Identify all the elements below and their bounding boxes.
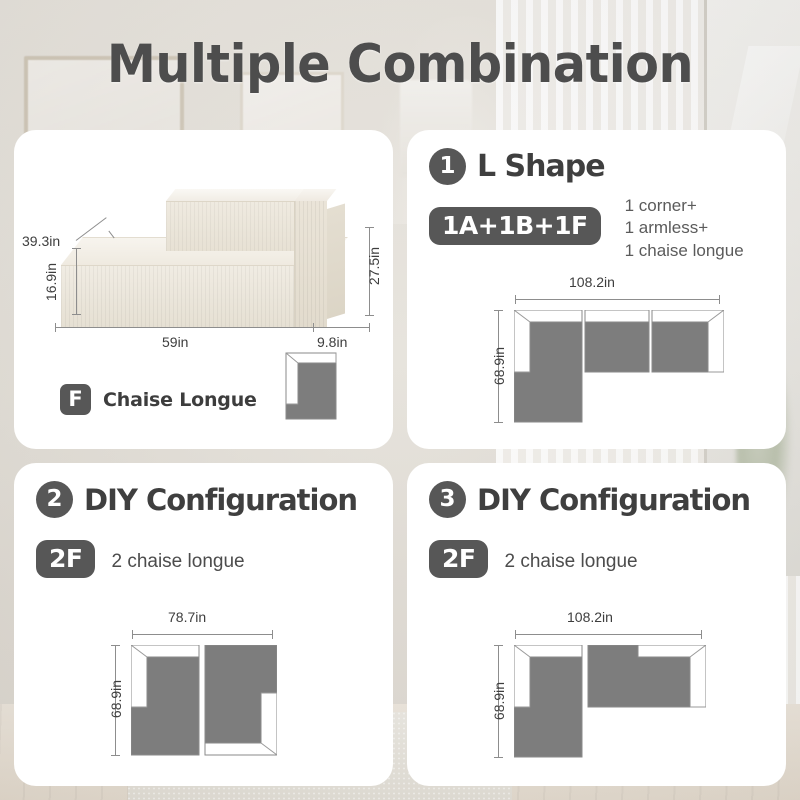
card-2-depth-cap-top — [111, 645, 120, 646]
card-config-2: 2 DIY Configuration 2F 2 chaise longue 7… — [14, 463, 393, 786]
card-1-combination-pill: 1A+1B+1F — [429, 207, 601, 245]
sofa-arm-top — [294, 189, 336, 201]
card-1-depth-cap-top — [494, 310, 503, 311]
module-name-label: Chaise Longue — [103, 389, 257, 411]
card-2-header: 2 DIY Configuration — [36, 481, 371, 518]
seat-height-cap-bottom — [72, 314, 81, 315]
card-1-width-cap-left — [515, 295, 516, 304]
width-cap-left — [55, 323, 56, 332]
seat-height-dimension-label: 16.9in — [43, 254, 59, 310]
page-title: Multiple Combination — [28, 34, 772, 95]
seat-height-cap-top — [72, 248, 81, 249]
seat-height-dimension-line — [76, 248, 77, 314]
sofa-backrest-top — [166, 189, 303, 201]
chaise-topview-icon — [285, 352, 337, 425]
chaise-topview-svg — [285, 352, 337, 420]
card-product-spec: 39.3in 16.9in 27.5in 59in 9.8in F Ch — [14, 130, 393, 449]
card-3-depth-label: 68.9in — [491, 673, 507, 729]
card-2-width-label: 78.7in — [168, 609, 206, 625]
module-letter-badge: F — [60, 384, 91, 415]
card-2-number-badge: 2 — [36, 481, 73, 518]
card-3-width-label: 108.2in — [567, 609, 613, 625]
card-2-width-cap-right — [272, 630, 273, 639]
card-3-description: 2 chaise longue — [504, 540, 637, 574]
sofa-side-panel — [327, 203, 345, 319]
arm-width-dimension-line — [313, 327, 369, 328]
card-2-combination-pill: 2F — [36, 540, 95, 578]
card-2-badge-row: 2F 2 chaise longue — [36, 540, 371, 578]
sofa-seat-front — [61, 265, 326, 327]
back-height-cap-top — [365, 227, 374, 228]
card-3-title: DIY Configuration — [477, 483, 750, 517]
card-2-width-cap-left — [132, 630, 133, 639]
card-3-header: 3 DIY Configuration — [429, 481, 764, 518]
width-dimension-line — [55, 327, 313, 328]
card-3-badge-row: 2F 2 chaise longue — [429, 540, 764, 578]
card-3-depth-cap-bottom — [494, 757, 503, 758]
infographic-page: Multiple Combination 39.3in 16.9in — [0, 0, 800, 800]
card-2-depth-label: 68.9in — [108, 671, 124, 727]
card-2-description: 2 chaise longue — [111, 540, 244, 574]
card-3-depth-cap-top — [494, 645, 503, 646]
card-3-width-cap-left — [515, 630, 516, 639]
card-3-combination-pill: 2F — [429, 540, 488, 578]
card-2-depth-cap-bottom — [111, 755, 120, 756]
sofa-backrest — [166, 201, 294, 251]
card-config-3: 3 DIY Configuration 2F 2 chaise longue 1… — [407, 463, 786, 786]
card-2-title: DIY Configuration — [84, 483, 357, 517]
card-2-width-line — [132, 634, 272, 635]
card-config-1: 1 L Shape 1A+1B+1F 1 corner+ 1 armless+ … — [407, 130, 786, 449]
card-1-title: L Shape — [477, 149, 605, 184]
card-1-width-label: 108.2in — [569, 274, 615, 290]
card-3-layout-svg — [514, 645, 706, 765]
sofa-arm — [294, 201, 327, 327]
card-3-width-cap-right — [701, 630, 702, 639]
arm-width-cap-right — [369, 323, 370, 332]
card-1-width-cap-right — [719, 295, 720, 304]
card-1-diagram: 108.2in 68.9in — [493, 278, 755, 424]
width-dimension-label: 59in — [162, 334, 188, 350]
back-height-dimension-label: 27.5in — [366, 238, 382, 294]
card-1-header: 1 L Shape — [429, 148, 764, 185]
card-1-depth-cap-bottom — [494, 422, 503, 423]
card-3-diagram: 108.2in 68.9in — [493, 613, 755, 765]
card-3-number-badge: 3 — [429, 481, 466, 518]
card-1-depth-label: 68.9in — [491, 338, 507, 394]
arm-width-dimension-label: 9.8in — [317, 334, 347, 350]
card-1-layout-svg — [514, 310, 724, 430]
card-1-description: 1 corner+ 1 armless+ 1 chaise longue — [625, 193, 744, 262]
back-height-cap-bottom — [365, 315, 374, 316]
module-legend-row: F Chaise Longue — [60, 384, 257, 415]
depth-dimension-label: 39.3in — [22, 233, 60, 249]
card-2-diagram: 78.7in 68.9in — [110, 613, 360, 765]
card-1-width-line — [515, 299, 719, 300]
card-2-layout-svg — [131, 645, 277, 763]
card-3-width-line — [515, 634, 701, 635]
card-grid: 39.3in 16.9in 27.5in 59in 9.8in F Ch — [14, 130, 786, 786]
card-1-number-badge: 1 — [429, 148, 466, 185]
card-1-badge-row: 1A+1B+1F 1 corner+ 1 armless+ 1 chaise l… — [429, 207, 764, 262]
